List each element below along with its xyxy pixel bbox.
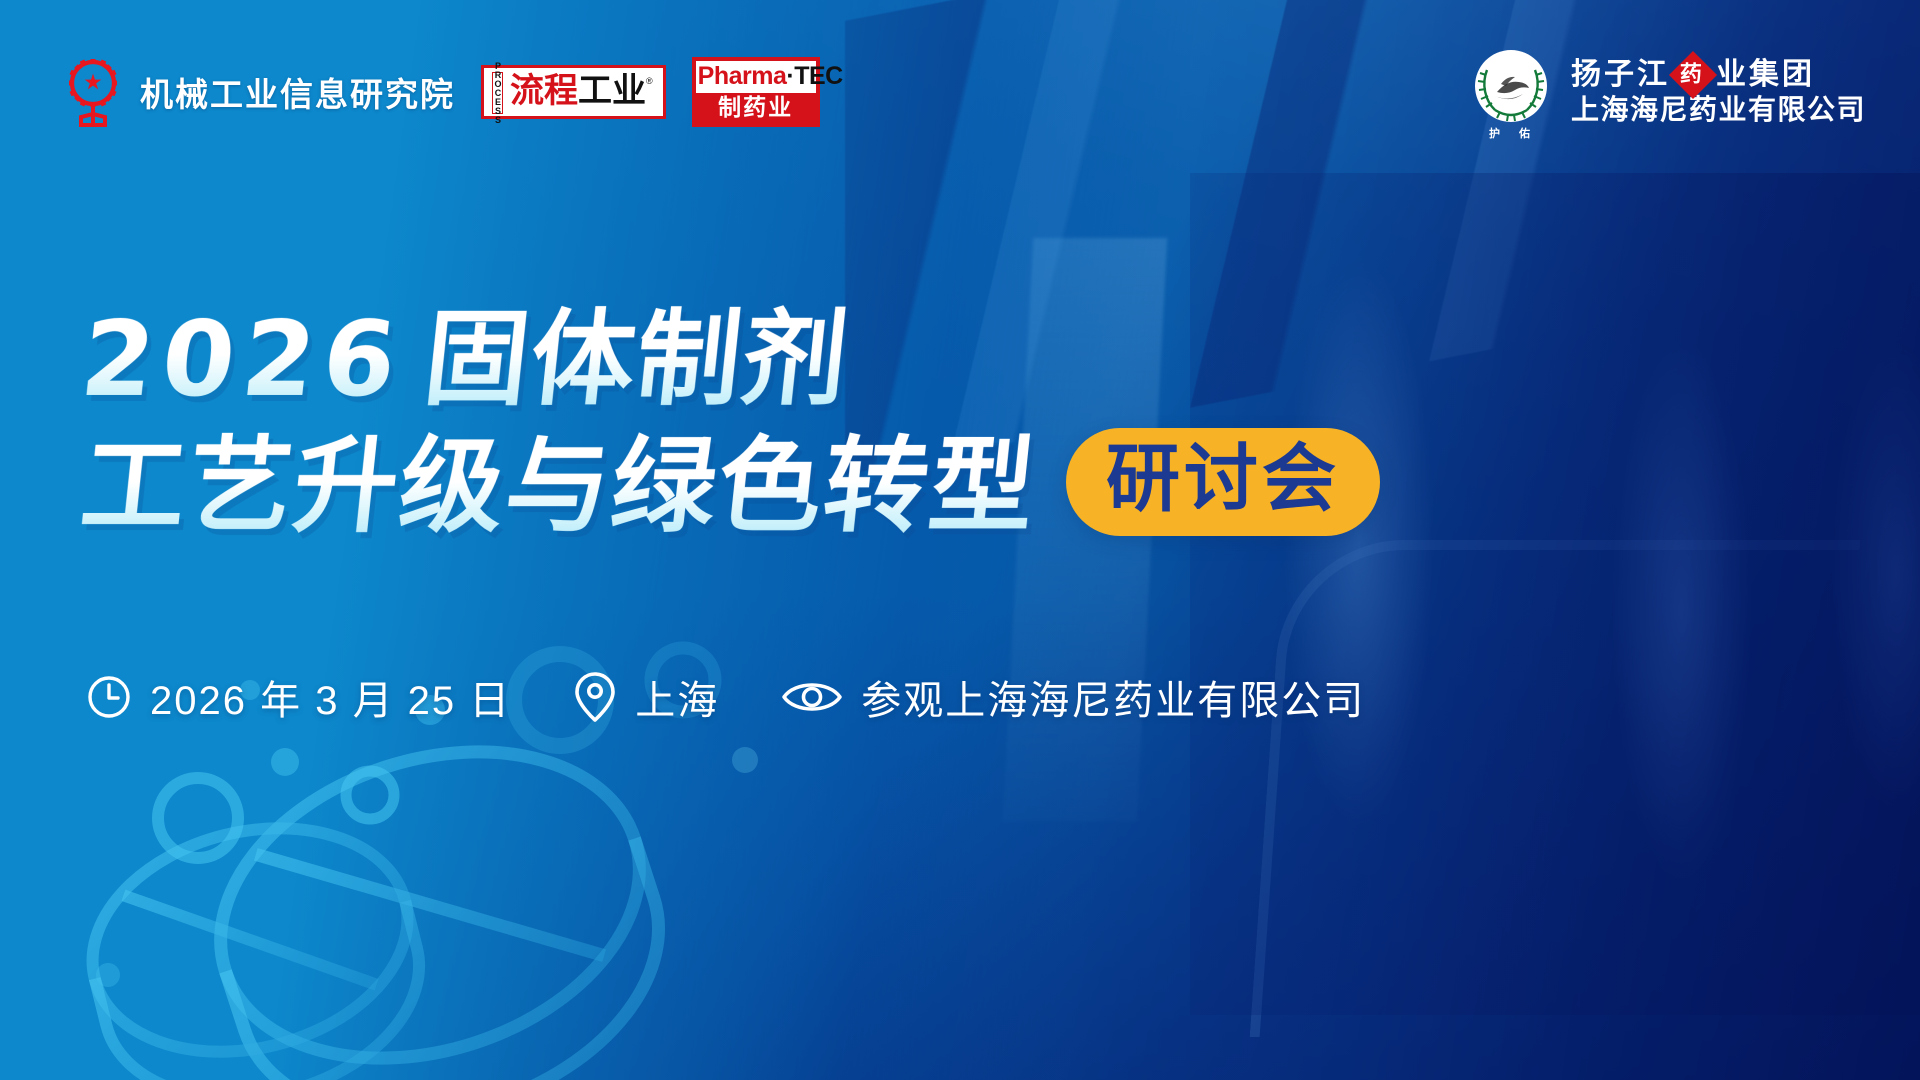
sponsor-diamond-char: 药: [1680, 61, 1705, 88]
logo-tec-word: TEC: [794, 62, 843, 90]
info-item-location: 上海: [573, 668, 719, 726]
sponsor-diamond-badge: 药: [1669, 51, 1717, 99]
headline-block: 2026 固体制剂 工艺升级与绿色转型 研讨会: [82, 296, 1380, 550]
logo-pharma-tec-latin: Pharma·TEC: [696, 61, 816, 93]
logo-process-industry[interactable]: PROCESS 流程 工业 ®: [481, 65, 666, 119]
logo-process-vertical-mark: PROCESS: [492, 72, 503, 114]
logo-mii-label: 机械工业信息研究院: [140, 68, 455, 116]
seminar-badge-label: 研讨会: [1106, 442, 1340, 516]
organizer-logos: 机械工业信息研究院 PROCESS 流程 工业 ® Pharma·TEC 制药业: [62, 55, 820, 129]
emblem-caption-right: 佑: [1518, 126, 1530, 140]
headline-year: 2026: [75, 296, 410, 423]
logo-pharma-dot: ·: [786, 62, 794, 90]
logo-process-cn-red: 流程: [510, 76, 578, 108]
map-pin-icon: [573, 671, 617, 723]
headline-line-2: 工艺升级与绿色转型 研讨会: [82, 423, 1380, 550]
info-item-visit: 参观上海海尼药业有限公司: [781, 668, 1365, 726]
info-item-date: 2026 年 3 月 25 日: [86, 668, 511, 726]
sponsor-name-line2: 上海海尼药业有限公司: [1571, 93, 1866, 127]
logo-pharma-word: Pharma: [698, 62, 787, 90]
logo-process-cn-black: 工业: [578, 76, 646, 108]
info-visit-label: 参观上海海尼药业有限公司: [861, 668, 1365, 726]
logo-pharma-tec[interactable]: Pharma·TEC 制药业: [692, 57, 820, 126]
event-info-bar: 2026 年 3 月 25 日 上海 参观上海海尼药业有限公司: [86, 668, 1365, 726]
headline-line-1: 2026 固体制剂: [82, 296, 1380, 423]
clock-icon: [86, 674, 132, 720]
logo-process-cn: 流程 工业 ®: [510, 76, 653, 108]
conference-banner: 机械工业信息研究院 PROCESS 流程 工业 ® Pharma·TEC 制药业: [0, 0, 1920, 1080]
logo-pharma-tec-cn: 制药业: [696, 96, 816, 122]
gear-star-book-emblem-icon: [62, 55, 124, 129]
sponsor-name-line1: 扬子江 药 业集团: [1571, 57, 1866, 94]
info-location-label: 上海: [635, 668, 719, 726]
sponsor-name-part1: 扬子江: [1571, 57, 1670, 94]
eye-icon: [781, 676, 843, 718]
headline-line-1-text: 固体制剂: [419, 296, 856, 423]
laurel-wreath-circle-emblem-icon: 护 佑: [1467, 44, 1555, 140]
logo-mii[interactable]: 机械工业信息研究院: [62, 55, 455, 129]
emblem-caption-left: 护: [1489, 126, 1500, 140]
sponsor-name-part2: 业集团: [1716, 57, 1815, 94]
info-date-label: 2026 年 3 月 25 日: [150, 668, 511, 726]
seminar-badge: 研讨会: [1066, 428, 1380, 536]
headline-line-2-text: 工艺升级与绿色转型: [75, 423, 1042, 550]
logo-row: 机械工业信息研究院 PROCESS 流程 工业 ® Pharma·TEC 制药业: [62, 44, 1866, 140]
logo-yangtze-river-pharmaceutical[interactable]: 护 佑 扬子江 药 业集团 上海海尼药业有限公司: [1467, 44, 1866, 140]
logo-process-registered: ®: [646, 76, 653, 86]
sponsor-text-block: 扬子江 药 业集团 上海海尼药业有限公司: [1571, 57, 1866, 128]
